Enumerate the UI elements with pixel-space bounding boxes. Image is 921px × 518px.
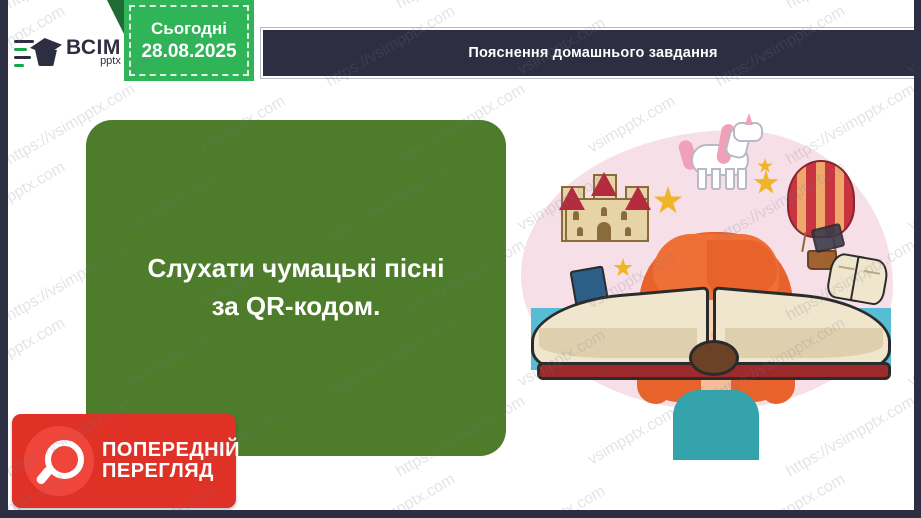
brand-logo[interactable]: ВСІМ pptx [12,26,116,78]
slide-canvas: ВСІМ pptx Сьогодні 28.08.2025 Пояснення … [8,0,914,510]
watermark-text: vsimpptx.com [905,483,914,510]
date-tag: Сьогодні 28.08.2025 [124,0,254,81]
slide-root: ВСІМ pptx Сьогодні 28.08.2025 Пояснення … [0,0,921,518]
preview-badge[interactable]: ПОПЕРЕДНІЙ ПЕРЕГЛЯД [12,414,236,508]
date-label: Сьогодні [151,19,227,39]
slide-title-bar: Пояснення домашнього завдання [261,28,914,78]
unicorn-icon [675,122,761,192]
watermark-text: https://vsimpptx.com [783,0,914,13]
graduation-cap-icon [14,32,66,72]
big-open-book [529,286,893,384]
content-text: Слухати чумацькі пісні за QR-кодом. [122,250,471,325]
content-card: Слухати чумацькі пісні за QR-кодом. [86,120,506,456]
date-value: 28.08.2025 [141,41,236,63]
watermark-text: vsimpptx.com [585,0,679,1]
watermark-text: https://vsimpptx.com [8,159,69,248]
illustration [513,108,913,458]
content-line-2: за QR-кодом. [148,288,445,326]
preview-badge-line-2: ПЕРЕГЛЯД [102,461,240,482]
watermark-text: https://vsimpptx.com [8,315,69,404]
watermark-text: https://vsimpptx.com [393,0,528,13]
page-title: Пояснення домашнього завдання [468,45,717,61]
watermark-text: https://vsimpptx.com [323,471,458,510]
watermark-text: vsimpptx.com [515,483,609,510]
preview-badge-line-1: ПОПЕРЕДНІЙ [102,440,240,461]
magnifier-icon [24,426,94,496]
content-line-1: Слухати чумацькі пісні [148,250,445,288]
watermark-text: https://vsimpptx.com [713,471,848,510]
